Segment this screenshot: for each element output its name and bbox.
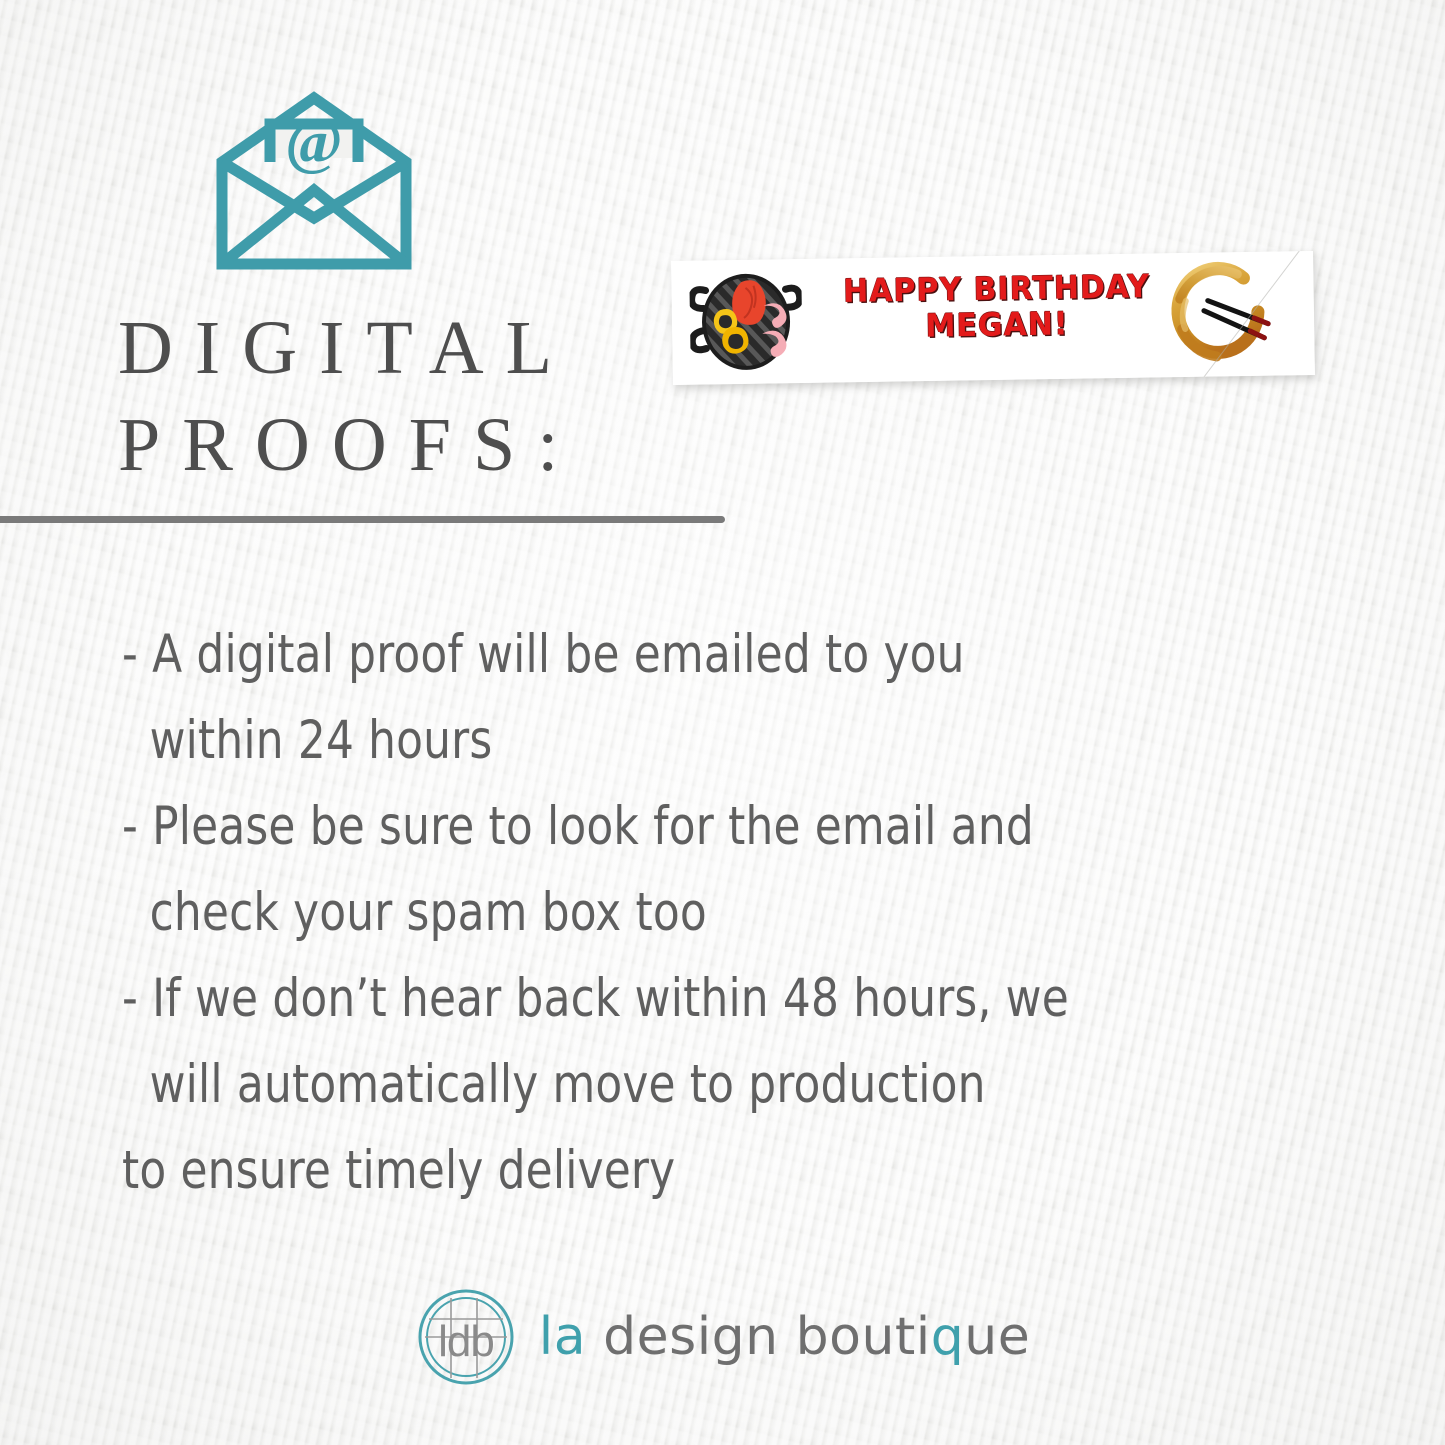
brand-wordmark-la: la xyxy=(539,1307,586,1367)
banner-canvas: HAPPY BIRTHDAY MEGAN! xyxy=(671,251,1315,385)
brand-wordmark-design-bouti: design bouti xyxy=(586,1307,931,1367)
page-title: DIGITAL PROOFS: xyxy=(118,300,738,495)
list-item-continuation: check your spam box too xyxy=(122,870,1244,956)
open-envelope-email-icon: @ xyxy=(214,86,414,271)
list-item-continuation: to ensure timely delivery xyxy=(122,1128,1244,1214)
proof-instructions-list: - A digital proof will be emailed to you… xyxy=(122,612,1342,1214)
banner-headline: HAPPY BIRTHDAY MEGAN! xyxy=(831,269,1162,345)
list-item-continuation: within 24 hours xyxy=(122,698,1244,784)
svg-text:@: @ xyxy=(285,108,343,176)
title-divider-rule xyxy=(0,516,725,523)
proof-info-card: @ DIGITAL PROOFS: xyxy=(0,0,1445,1445)
brand-wordmark-ue: ue xyxy=(964,1307,1030,1367)
banner-proof-preview[interactable]: HAPPY BIRTHDAY MEGAN! xyxy=(671,251,1315,385)
brand-wordmark: la design boutique xyxy=(539,1311,1030,1363)
svg-text:ldb: ldb xyxy=(438,1317,494,1366)
ldb-monogram-icon: ldb xyxy=(415,1286,517,1388)
hibachi-grill-icon xyxy=(689,267,803,377)
page-title-line-2: PROOFS: xyxy=(118,397,738,494)
list-item: - A digital proof will be emailed to you xyxy=(122,612,1244,698)
banner-headline-line-2: MEGAN! xyxy=(832,305,1163,346)
list-item-continuation: will automatically move to production xyxy=(122,1042,1244,1128)
banner-headline-line-1: HAPPY BIRTHDAY xyxy=(831,269,1162,310)
page-title-line-1: DIGITAL xyxy=(118,300,738,397)
list-item: - If we don’t hear back within 48 hours,… xyxy=(122,956,1244,1042)
brand-wordmark-q: q xyxy=(931,1307,965,1367)
brand-logo: ldb la design boutique xyxy=(0,1286,1445,1388)
list-item: - Please be sure to look for the email a… xyxy=(122,784,1244,870)
